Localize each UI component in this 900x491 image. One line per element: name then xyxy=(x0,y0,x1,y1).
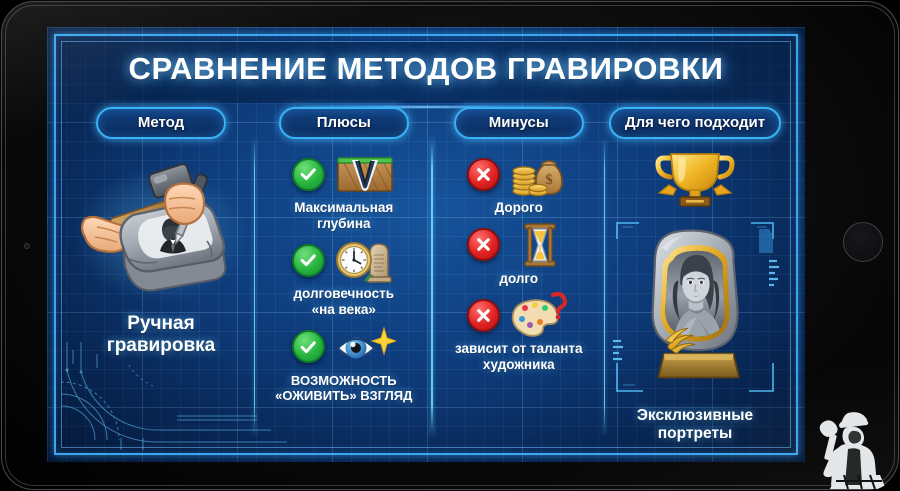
list-item-line2: «на века» xyxy=(293,302,394,318)
result-label-line1: Эксклюзивные xyxy=(637,407,753,425)
list-item-line1: долговечность xyxy=(293,286,394,302)
green-check-icon xyxy=(292,330,325,363)
tablet-screen: СРАВНЕНИЕ МЕТОДОВ ГРАВИРОВКИ Метод xyxy=(47,27,805,462)
column-pros: Плюсы xyxy=(255,105,433,444)
list-item-line2: художника xyxy=(455,357,583,373)
list-item-line2: глубина xyxy=(294,216,393,232)
comparison-table: Метод xyxy=(67,105,785,444)
list-item-line1: долго xyxy=(499,271,538,287)
pros-list: Максимальная глубина xyxy=(259,149,429,403)
list-item: долговечность «на века» xyxy=(259,235,429,317)
stonemason-worker-logo xyxy=(808,403,894,489)
header-method[interactable]: Метод xyxy=(96,107,226,139)
list-item-line1: Дорого xyxy=(495,200,543,216)
column-cons: Минусы xyxy=(433,105,606,444)
list-item: Максимальная глубина xyxy=(259,149,429,231)
list-item-text: зависит от таланта художника xyxy=(453,341,585,372)
list-item-text: долго xyxy=(497,271,540,287)
list-item: долго xyxy=(437,220,602,287)
v-groove-depth-icon xyxy=(334,151,396,197)
list-item-text: Дорого xyxy=(493,200,545,216)
list-item-line2: «оживить» взгляд xyxy=(275,388,412,403)
column-method: Метод xyxy=(67,105,255,444)
hammer-chisel-stone-portrait-icon xyxy=(71,155,251,305)
red-cross-icon xyxy=(467,158,500,191)
engraved-memorial-portrait-icon xyxy=(609,213,781,403)
red-cross-icon xyxy=(467,228,500,261)
method-label: Ручная гравировка xyxy=(107,313,215,356)
gold-trophy-icon xyxy=(654,149,736,211)
artist-palette-question-icon xyxy=(509,292,571,338)
home-button[interactable] xyxy=(843,222,883,262)
list-item-line1: зависит от таланта xyxy=(455,341,583,357)
column-result: Для чего подходит xyxy=(605,105,785,444)
green-check-icon xyxy=(292,158,325,191)
list-item-line1: возможность xyxy=(275,373,412,388)
list-item-text: долговечность «на века» xyxy=(291,286,396,317)
green-check-icon xyxy=(292,244,325,277)
method-label-line2: гравировка xyxy=(107,335,215,357)
red-cross-icon xyxy=(467,299,500,332)
list-item: $ xyxy=(437,149,602,216)
list-item-text: Максимальная глубина xyxy=(292,200,395,231)
money-bag-coins-icon: $ xyxy=(509,151,571,197)
result-label: Эксклюзивные портреты xyxy=(637,407,753,443)
svg-text:$: $ xyxy=(545,172,553,188)
list-item-text: возможность «оживить» взгляд xyxy=(273,373,414,403)
header-result[interactable]: Для чего подходит xyxy=(609,107,781,139)
eye-sparkle-icon xyxy=(334,324,396,370)
method-label-line1: Ручная xyxy=(107,313,215,335)
tablet-device: СРАВНЕНИЕ МЕТОДОВ ГРАВИРОВКИ Метод xyxy=(0,0,900,491)
list-item: возможность «оживить» взгляд xyxy=(259,322,429,403)
hourglass-icon xyxy=(509,222,571,268)
camera-dot xyxy=(24,243,30,249)
page-title: СРАВНЕНИЕ МЕТОДОВ ГРАВИРОВКИ xyxy=(47,51,805,87)
cons-list: $ xyxy=(437,149,602,373)
clock-monument-icon xyxy=(334,237,396,283)
header-cons[interactable]: Минусы xyxy=(454,107,584,139)
result-label-line2: портреты xyxy=(637,425,753,443)
list-item-line1: Максимальная xyxy=(294,200,393,216)
header-pros[interactable]: Плюсы xyxy=(279,107,409,139)
list-item: зависит от таланта художника xyxy=(437,290,602,372)
